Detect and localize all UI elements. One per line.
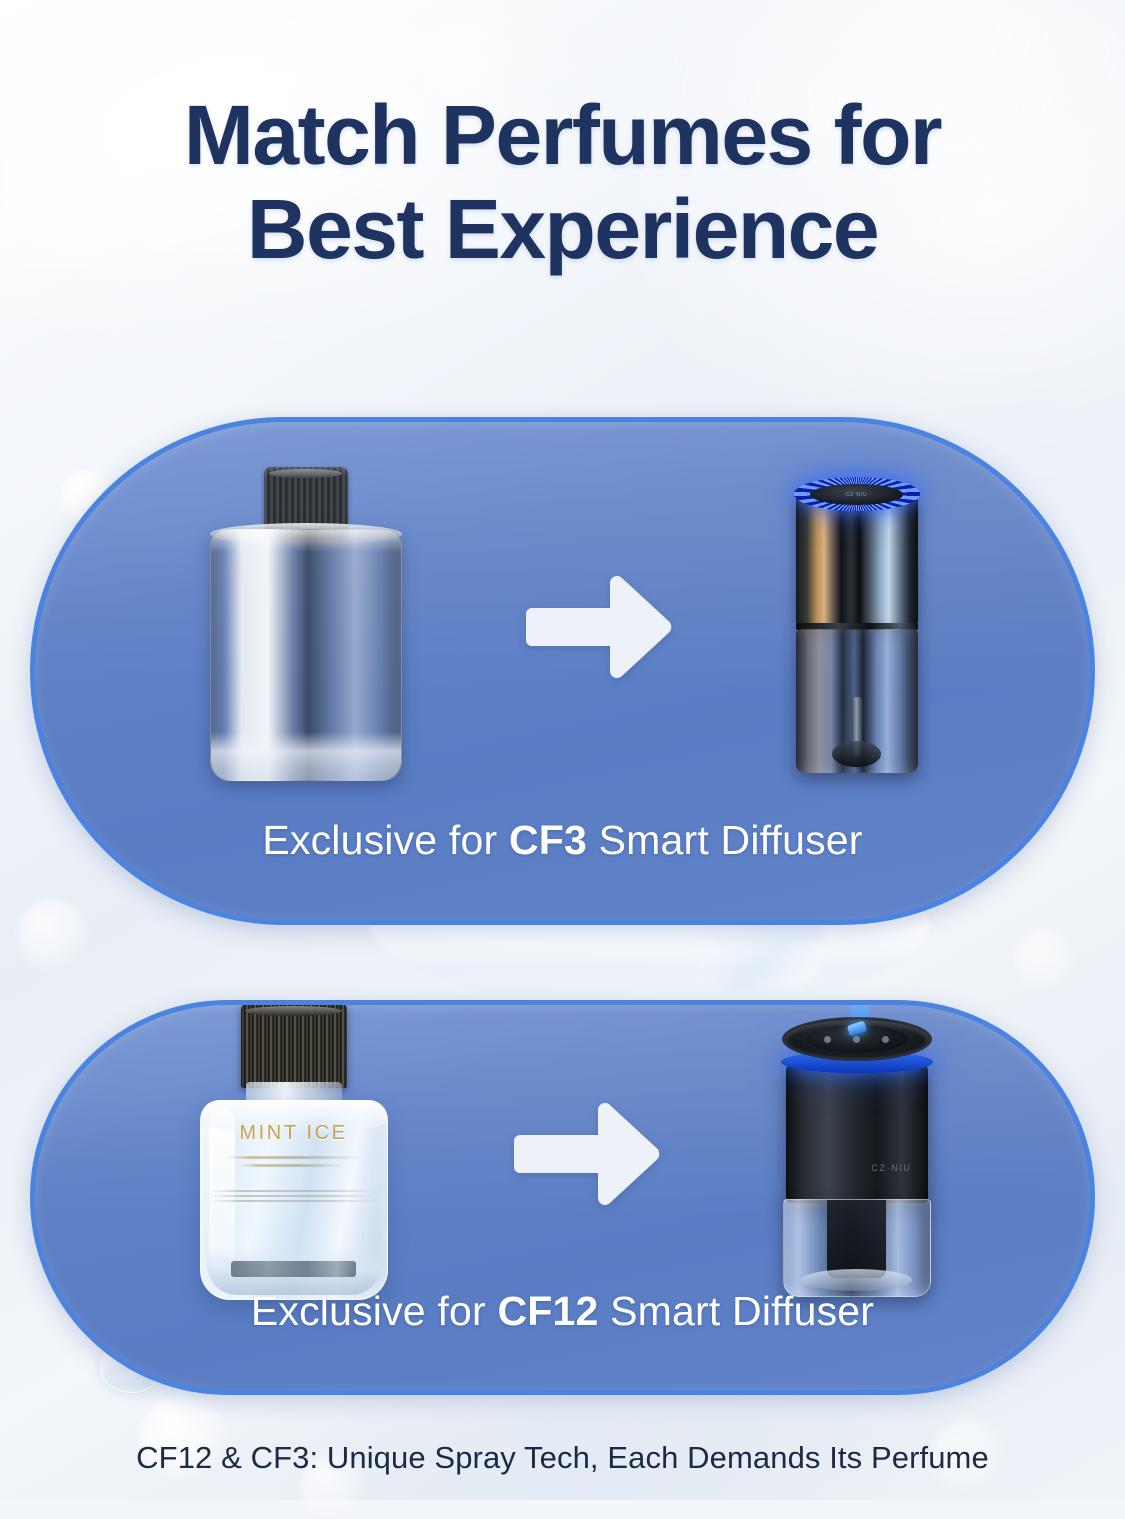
caption-suffix: Smart Diffuser [599,1288,875,1334]
cf3-refill-cartridge [206,467,406,787]
arrow-right-icon [514,1102,662,1206]
bottle-sublabel-lines [226,1156,362,1167]
cf12-control-dot [824,1036,831,1043]
panel-content-row-cf3: CZ·NIU [35,452,1090,802]
cf3-wick-stem [851,697,862,757]
footer-tagline: CF12 & CF3: Unique Spray Tech, Each Dema… [0,1440,1125,1476]
caption-model: CF3 [509,817,587,863]
caption-cf12: Exclusive for CF12 Smart Diffuser [35,1288,1090,1335]
cf12-brand-logo: CZ·NIU [871,1163,911,1173]
arrow-right-icon [526,575,674,679]
headline-line-2: Best Experience [247,182,878,276]
cf12-control-dot [853,1036,860,1043]
caption-prefix: Exclusive for [262,817,509,863]
caption-cf3: Exclusive for CF3 Smart Diffuser [35,817,1090,864]
cf3-smart-diffuser: CZ·NIU [794,477,920,777]
caption-model: CF12 [497,1288,598,1334]
product-panel-cf12: MINT ICE CZ·NIU Exclu [30,1000,1095,1395]
mint-ice-perfume-bottle: MINT ICE [194,1004,394,1304]
cf3-top-face: CZ·NIU [810,484,903,505]
cf3-upper-shell [796,495,918,627]
cf3-brand-logo: CZ·NIU [846,492,868,498]
page-title: Match Perfumes for Best Experience [0,88,1125,276]
cf12-main-shell: CZ·NIU [786,1063,928,1203]
cf12-tank [783,1199,931,1297]
cf12-control-dot [882,1036,889,1043]
bottle-cap [241,1004,347,1088]
product-panel-cf3: CZ·NIU Exclusive for CF3 Smart Diffuser [30,417,1095,925]
bottle-fineprint-lines [210,1190,378,1202]
bottle-label-text: MINT ICE [194,1122,394,1145]
caption-prefix: Exclusive for [251,1288,498,1334]
cf12-smart-diffuser: CZ·NIU [782,1009,932,1299]
cartridge-body [210,529,402,781]
panel-content-row-cf12: MINT ICE CZ·NIU [35,1000,1090,1309]
caption-suffix: Smart Diffuser [587,817,863,863]
cf3-tank [796,629,918,773]
headline-line-1: Match Perfumes for [184,88,941,182]
